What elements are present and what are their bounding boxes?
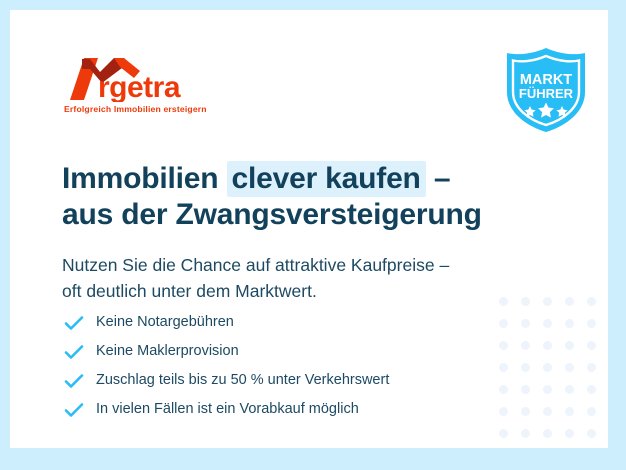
decorative-dot — [521, 341, 530, 350]
check-icon — [64, 373, 84, 389]
list-item: Keine Maklerprovision — [64, 337, 504, 366]
decorative-dot — [543, 319, 552, 328]
headline: Immobilien clever kaufen – aus der Zwang… — [62, 161, 532, 233]
decorative-dot — [521, 385, 530, 394]
decorative-dot — [587, 429, 596, 438]
subheading-line1: Nutzen Sie die Chance auf attraktive Kau… — [62, 252, 542, 278]
banner-card: rgetra Erfolgreich Immobilien ersteigern… — [10, 10, 608, 448]
decorative-dot — [565, 407, 574, 416]
check-icon — [64, 344, 84, 360]
headline-line1-before: Immobilien — [62, 162, 227, 195]
list-item: In vielen Fällen ist ein Vorabkauf mögli… — [64, 395, 504, 424]
decorative-dot — [521, 319, 530, 328]
headline-line1-after: – — [426, 162, 451, 195]
benefit-label: Keine Notargebühren — [96, 315, 234, 330]
decorative-dot — [587, 341, 596, 350]
headline-line2: aus der Zwangsversteigerung — [62, 197, 532, 233]
svg-text:rgetra: rgetra — [98, 71, 181, 102]
decorative-dot — [565, 319, 574, 328]
decorative-dot — [565, 385, 574, 394]
decorative-dot — [565, 297, 574, 306]
check-icon — [64, 402, 84, 418]
list-item: Keine Notargebühren — [64, 308, 504, 337]
decorative-dot — [521, 363, 530, 372]
benefit-label: In vielen Fällen ist ein Vorabkauf mögli… — [96, 402, 359, 417]
headline-highlight: clever kaufen — [227, 161, 426, 197]
marktfuehrer-badge: MARKT FÜHRER — [502, 46, 590, 134]
benefit-label: Zuschlag teils bis zu 50 % unter Verkehr… — [96, 373, 389, 388]
subheading-line2: oft deutlich unter dem Marktwert. — [62, 278, 542, 304]
decorative-dot — [565, 341, 574, 350]
benefit-label: Keine Maklerprovision — [96, 344, 239, 359]
decorative-dot — [565, 429, 574, 438]
decorative-dot — [543, 363, 552, 372]
decorative-dot — [587, 363, 596, 372]
promo-banner: rgetra Erfolgreich Immobilien ersteigern… — [0, 0, 626, 470]
argetra-logo[interactable]: rgetra Erfolgreich Immobilien ersteigern — [62, 56, 262, 118]
decorative-dot — [587, 385, 596, 394]
decorative-dot — [521, 429, 530, 438]
decorative-dot — [565, 363, 574, 372]
decorative-dot — [587, 319, 596, 328]
decorative-dot — [543, 385, 552, 394]
benefits-list: Keine Notargebühren Keine Maklerprovisio… — [64, 308, 504, 424]
check-icon — [64, 315, 84, 331]
decorative-dot — [587, 407, 596, 416]
decorative-dot — [521, 407, 530, 416]
list-item: Zuschlag teils bis zu 50 % unter Verkehr… — [64, 366, 504, 395]
decorative-dot — [499, 429, 508, 438]
decorative-dot — [543, 429, 552, 438]
shield-icon: MARKT FÜHRER — [502, 46, 590, 134]
decorative-dot — [543, 407, 552, 416]
decorative-dot — [543, 297, 552, 306]
logo-tagline: Erfolgreich Immobilien ersteigern — [64, 104, 207, 114]
badge-line2: FÜHRER — [519, 86, 574, 101]
decorative-dot — [543, 341, 552, 350]
dot-grid-decoration — [488, 288, 608, 448]
subheading: Nutzen Sie die Chance auf attraktive Kau… — [62, 252, 542, 304]
decorative-dot — [587, 297, 596, 306]
argetra-roof-a-icon: rgetra — [62, 56, 204, 102]
